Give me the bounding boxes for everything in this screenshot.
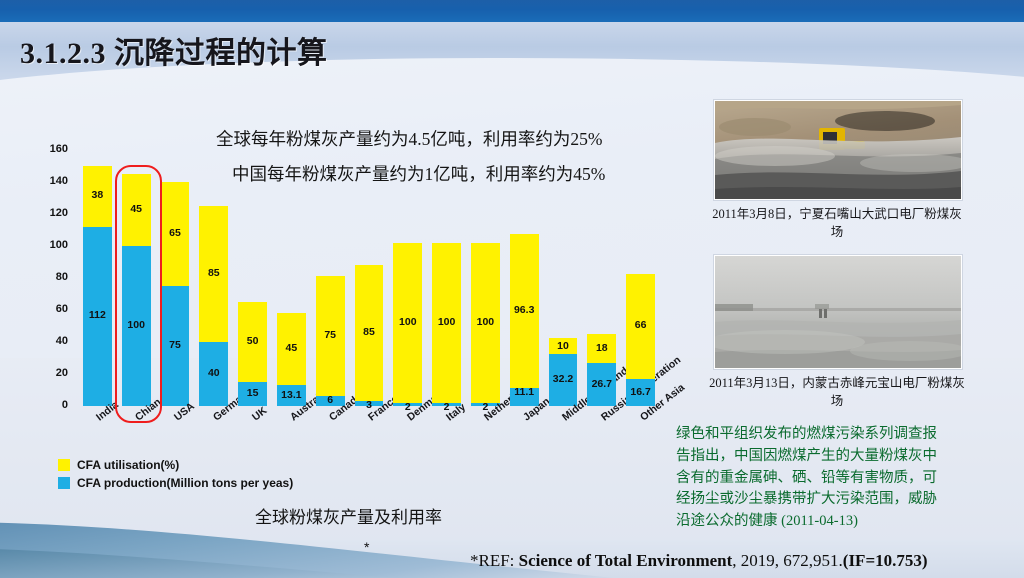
photo-chifeng [714, 255, 962, 369]
reference-prefix: *REF: [470, 551, 519, 570]
bar-usa[interactable]: 6575 [161, 182, 190, 406]
photo-chifeng-caption: 2011年3月13日，内蒙古赤峰元宝山电厂粉煤灰场 [706, 374, 968, 410]
bar-uk[interactable]: 5015 [238, 302, 267, 406]
legend-swatch-utilisation [58, 459, 70, 471]
green-note-line-3: 含有的重金属砷、硒、铅等有害物质，可 [676, 468, 1016, 490]
bar-value-production: 15 [238, 387, 267, 399]
bar-value-utilisation: 18 [587, 342, 616, 354]
bar-value-utilisation: 75 [316, 329, 345, 341]
bar-segment-production: 75 [161, 286, 190, 406]
green-note-line-2: 告指出，中国因燃煤产生的大量粉煤灰中 [676, 446, 1016, 468]
photo-ningxia-image [715, 101, 961, 199]
y-axis-tick-40: 40 [38, 335, 68, 347]
bar-value-utilisation: 50 [238, 335, 267, 347]
chart-legend: CFA utilisation(%) CFA production(Millio… [58, 458, 293, 494]
bar-segment-utilisation: 85 [355, 265, 384, 401]
bar-russian-federation[interactable]: 1826.7 [587, 334, 616, 406]
green-note-line-5: 沿途公众的健康 (2011-04-13) [676, 511, 1016, 533]
bar-value-utilisation: 100 [432, 316, 461, 328]
chart-caption: 全球粉煤灰产量及利用率 [255, 503, 442, 528]
y-axis-tick-100: 100 [38, 239, 68, 251]
photo-ningxia [714, 100, 962, 200]
reference-suffix: , 2019, 672,951. [732, 551, 843, 570]
bar-segment-production: 112 [83, 227, 112, 406]
bar-value-utilisation: 10 [549, 340, 578, 352]
bar-value-production: 11.1 [510, 386, 539, 398]
slide-canvas: 3.1.2.3 沉降过程的计算 全球每年粉煤灰产量约为4.5亿吨，利用率约为25… [0, 0, 1024, 578]
y-axis-tick-140: 140 [38, 175, 68, 187]
bar-value-utilisation: 100 [393, 316, 422, 328]
photo-ningxia-caption: 2011年3月8日，宁夏石嘴山大武口电厂粉煤灰场 [706, 205, 968, 241]
bar-segment-utilisation: 100 [471, 243, 500, 403]
bar-other-asia[interactable]: 6616.7 [626, 274, 655, 406]
bar-segment-utilisation: 66 [626, 274, 655, 380]
bar-segment-production: 26.7 [587, 363, 616, 406]
green-note-line-1: 绿色和平组织发布的燃煤污染系列调查报 [676, 424, 1016, 446]
bar-value-utilisation: 100 [471, 316, 500, 328]
legend-item-utilisation: CFA utilisation(%) [58, 458, 293, 472]
reference-journal: Science of Total Environment [519, 551, 733, 570]
bar-segment-utilisation: 75 [316, 276, 345, 396]
bar-value-utilisation: 96.3 [510, 304, 539, 316]
annotation-line-2: 中国每年粉煤灰产量约为1亿吨，利用率约为45% [232, 161, 605, 186]
legend-label-production: CFA production(Million tons per yeas) [77, 476, 293, 490]
bar-segment-utilisation: 38 [83, 166, 112, 227]
header-top-bar [0, 0, 1024, 22]
bar-netherlands[interactable]: 1002 [471, 243, 500, 406]
y-axis-tick-80: 80 [38, 271, 68, 283]
bar-segment-utilisation: 65 [161, 182, 190, 286]
green-note: 绿色和平组织发布的燃煤污染系列调查报 告指出，中国因燃煤产生的大量粉煤灰中 含有… [676, 424, 1016, 533]
bar-japan[interactable]: 96.311.1 [510, 234, 539, 406]
bar-australia[interactable]: 4513.1 [277, 313, 306, 406]
reference-line: *REF: Science of Total Environment, 2019… [470, 551, 928, 571]
bar-segment-production: 40 [199, 342, 228, 406]
y-axis-tick-160: 160 [38, 143, 68, 155]
bar-segment-utilisation: 100 [393, 243, 422, 403]
footnote-star: * [364, 539, 369, 555]
stacked-bar-chart: 02040608010012014016038112India45100Chia… [0, 94, 690, 514]
bar-value-utilisation: 38 [83, 189, 112, 201]
bar-france[interactable]: 853 [355, 265, 384, 406]
bar-value-production: 32.2 [549, 373, 578, 385]
bar-value-utilisation: 65 [161, 227, 190, 239]
y-axis-tick-0: 0 [38, 399, 68, 411]
bar-value-production: 40 [199, 367, 228, 379]
y-axis-tick-120: 120 [38, 207, 68, 219]
bar-segment-utilisation: 96.3 [510, 234, 539, 388]
annotation-line-1: 全球每年粉煤灰产量约为4.5亿吨，利用率约为25% [216, 126, 602, 151]
y-axis-tick-20: 20 [38, 367, 68, 379]
page-title: 3.1.2.3 沉降过程的计算 [20, 28, 328, 72]
bar-value-utilisation: 85 [199, 267, 228, 279]
bar-germany[interactable]: 8540 [199, 206, 228, 406]
legend-label-utilisation: CFA utilisation(%) [77, 458, 179, 472]
bar-value-production: 75 [161, 339, 190, 351]
bar-india[interactable]: 38112 [83, 166, 112, 406]
bar-middle-east-and-africa[interactable]: 1032.2 [549, 338, 578, 406]
highlight-box-china [115, 165, 162, 423]
bar-value-production: 26.7 [587, 378, 616, 390]
bar-segment-utilisation: 100 [432, 243, 461, 403]
legend-item-production: CFA production(Million tons per yeas) [58, 476, 293, 490]
legend-swatch-production [58, 477, 70, 489]
bar-canada[interactable]: 756 [316, 276, 345, 406]
x-axis-label-uk: UK [250, 405, 269, 424]
bar-italy[interactable]: 1002 [432, 243, 461, 406]
bar-value-utilisation: 85 [355, 326, 384, 338]
bar-value-production: 13.1 [277, 389, 306, 401]
bar-denmark[interactable]: 1002 [393, 243, 422, 406]
y-axis-tick-60: 60 [38, 303, 68, 315]
bar-segment-production: 15 [238, 382, 267, 406]
bar-segment-utilisation: 18 [587, 334, 616, 363]
bar-segment-production: 32.2 [549, 354, 578, 406]
bar-segment-utilisation: 50 [238, 302, 267, 382]
bar-value-production: 112 [83, 309, 112, 321]
bar-segment-utilisation: 85 [199, 206, 228, 342]
bar-value-production: 16.7 [626, 386, 655, 398]
photo-chifeng-image [715, 256, 961, 368]
green-note-line-4: 经扬尘或沙尘暴携带扩大污染范围，威胁 [676, 489, 1016, 511]
bar-value-utilisation: 66 [626, 319, 655, 331]
reference-impact-factor: (IF=10.753) [843, 551, 928, 570]
bar-segment-utilisation: 45 [277, 313, 306, 385]
bar-value-utilisation: 45 [277, 342, 306, 354]
bar-segment-production: 16.7 [626, 379, 655, 406]
bar-segment-utilisation: 10 [549, 338, 578, 354]
